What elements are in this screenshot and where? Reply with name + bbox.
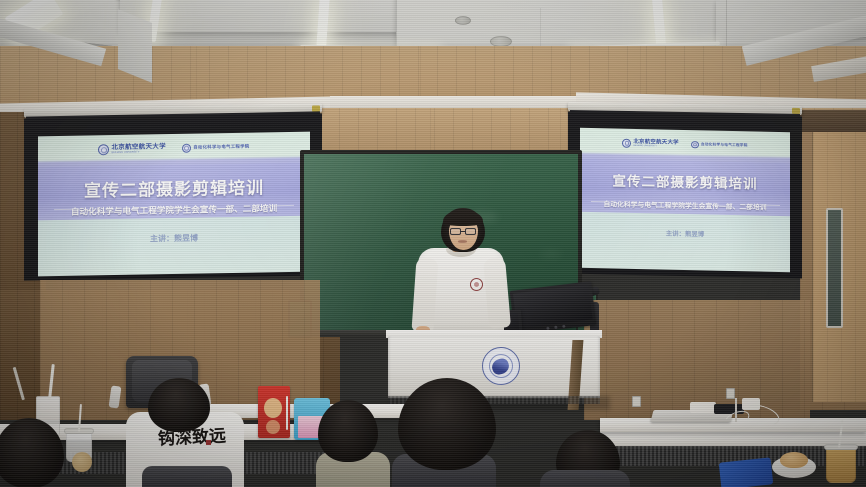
- tee-seal-mark: [206, 440, 211, 445]
- slide-title: 宣传二部摄影剪辑培训: [38, 172, 310, 202]
- snack-bag[interactable]: [719, 457, 774, 487]
- school-seal-icon: [182, 144, 191, 153]
- wall-outlet[interactable]: [726, 388, 735, 399]
- left-slide: 北京航空航天大学 BEIHANG UNIVERSITY 自动化科学与电气工程学院…: [38, 132, 310, 277]
- ceiling-panel: [120, 0, 420, 32]
- podium-university-seal: [482, 347, 520, 385]
- university-logo: 北京航空航天大学 BEIHANG UNIVERSITY: [622, 139, 679, 149]
- snack-box-art: [266, 420, 280, 434]
- lecture-hall-scene: 北京航空航天大学 BEIHANG UNIVERSITY 自动化科学与电气工程学院…: [0, 0, 866, 487]
- shirt-chest-logo: [470, 278, 483, 291]
- wall-seam: [560, 108, 561, 152]
- school-logo: 自动化科学与电气工程学院: [691, 141, 747, 150]
- audience-head: [318, 400, 378, 462]
- slide-logo-row: 北京航空航天大学 BEIHANG UNIVERSITY 自动化科学与电气工程学院: [38, 136, 310, 162]
- school-name: 自动化科学与电气工程学院: [701, 143, 748, 148]
- monitor-button[interactable]: [554, 326, 557, 329]
- power-adapter: [690, 402, 716, 413]
- wall-switch[interactable]: [632, 396, 641, 407]
- ceiling-seam: [396, 0, 397, 52]
- door-header: [800, 110, 866, 132]
- chalk-smudge: [540, 250, 562, 258]
- monitor-button[interactable]: [562, 325, 565, 328]
- left-screen-frame: 北京航空航天大学 BEIHANG UNIVERSITY 自动化科学与电气工程学院…: [24, 113, 322, 280]
- snack-food: [780, 452, 808, 468]
- ceiling-seam: [726, 0, 727, 46]
- glasses-right-lens-icon: [465, 228, 476, 235]
- right-slide: 北京航空航天大学 BEIHANG UNIVERSITY 自动化科学与电气工程学院…: [580, 128, 790, 272]
- presenter-mouth: [458, 240, 467, 243]
- cup-lid: [824, 444, 858, 450]
- tee-calligraphy-text: 钩深致远: [158, 428, 227, 447]
- monitor-screen: [513, 285, 593, 329]
- presenter-fringe: [443, 210, 483, 226]
- round-snack: [72, 452, 92, 472]
- audience-head: [148, 378, 210, 432]
- university-logo: 北京航空航天大学 BEIHANG UNIVERSITY: [98, 143, 165, 155]
- snack-box-art: [264, 398, 282, 418]
- slide-presenter: 主讲：熊昱博: [580, 227, 790, 240]
- audience-torso: [540, 470, 630, 487]
- outlet-cord: [735, 398, 737, 422]
- wall-header-strip: [330, 96, 580, 108]
- audience-head: [398, 378, 496, 470]
- door-window: [826, 208, 843, 328]
- wall-seam: [430, 108, 431, 152]
- university-name-en: BEIHANG UNIVERSITY: [111, 151, 165, 155]
- audience-chair-shadow: [142, 466, 232, 487]
- school-logo: 自动化科学与电气工程学院: [182, 143, 249, 153]
- glasses-bridge: [461, 231, 465, 232]
- slide-logo-row: 北京航空航天大学 BEIHANG UNIVERSITY 自动化科学与电气工程学院: [580, 132, 790, 157]
- milk-tea-cup[interactable]: [826, 448, 856, 483]
- ceiling-vent: [455, 16, 471, 25]
- school-name: 自动化科学与电气工程学院: [193, 145, 249, 151]
- glasses-left-lens-icon: [450, 228, 461, 235]
- right-screen-frame: 北京航空航天大学 BEIHANG UNIVERSITY 自动化科学与电气工程学院…: [568, 112, 802, 279]
- school-seal-icon: [691, 141, 699, 149]
- university-seal-icon: [622, 139, 631, 148]
- seal-emblem-icon: [490, 356, 511, 376]
- slide-presenter: 主讲：熊昱博: [38, 231, 310, 247]
- university-name-en: BEIHANG UNIVERSITY: [633, 145, 679, 148]
- wall-seam: [196, 46, 197, 106]
- university-seal-icon: [98, 144, 109, 155]
